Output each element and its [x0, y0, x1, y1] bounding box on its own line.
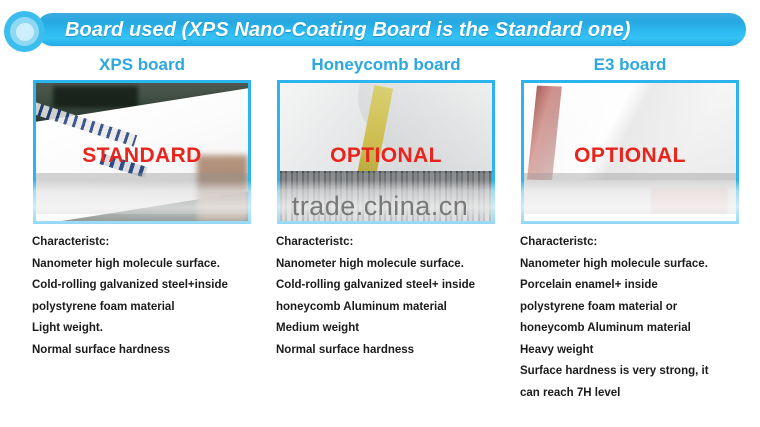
e3-photo-label: OPTIONAL: [524, 144, 736, 168]
characteristics-line: Characteristc:: [520, 232, 750, 254]
column-title-honeycomb: Honeycomb board: [266, 52, 506, 78]
characteristics-line: Medium weight: [276, 318, 506, 340]
characteristics-line: Normal surface hardness: [276, 340, 506, 362]
characteristics-line: honeycomb Aluminum material: [276, 297, 506, 319]
board-comparison-columns: XPS board STANDARD Characteristc: Nanome…: [0, 52, 760, 427]
characteristics-line: Characteristc:: [276, 232, 506, 254]
characteristics-line: Characteristc:: [32, 232, 262, 254]
characteristics-line: Normal surface hardness: [32, 340, 262, 362]
e3-board-photo: OPTIONAL: [521, 80, 739, 224]
honeycomb-characteristics-list: Characteristc: Nanometer high molecule s…: [266, 232, 506, 361]
honeycomb-board-photo: OPTIONAL: [277, 80, 495, 224]
xps-photo-label: STANDARD: [36, 144, 248, 168]
xps-characteristics-list: Characteristc: Nanometer high molecule s…: [22, 232, 262, 361]
characteristics-line: polystyrene foam material or: [520, 297, 750, 319]
characteristics-line: Cold-rolling galvanized steel+inside: [32, 275, 262, 297]
characteristics-line: Nanometer high molecule surface.: [520, 254, 750, 276]
characteristics-line: Cold-rolling galvanized steel+ inside: [276, 275, 506, 297]
characteristics-line: can reach 7H level: [520, 383, 750, 405]
concentric-circle-logo-icon: [4, 11, 45, 52]
logo-ring-inner: [16, 23, 34, 41]
xps-photo-machinery-shadow: [53, 86, 138, 108]
e3-characteristics-list: Characteristc: Nanometer high molecule s…: [510, 232, 750, 404]
board-column-xps: XPS board STANDARD Characteristc: Nanome…: [22, 52, 262, 361]
e3-photo-watermark-band: [521, 173, 739, 214]
characteristics-line: Porcelain enamel+ inside: [520, 275, 750, 297]
characteristics-line: Nanometer high molecule surface.: [276, 254, 506, 276]
characteristics-line: Nanometer high molecule surface.: [32, 254, 262, 276]
xps-board-photo: STANDARD: [33, 80, 251, 224]
characteristics-line: Heavy weight: [520, 340, 750, 362]
board-column-e3: E3 board OPTIONAL Characteristc: Nanomet…: [510, 52, 750, 404]
page-header: Board used (XPS Nano-Coating Board is th…: [0, 9, 760, 55]
characteristics-line: honeycomb Aluminum material: [520, 318, 750, 340]
characteristics-line: Surface hardness is very strong, it: [520, 361, 750, 383]
xps-photo-watermark-band: [33, 173, 251, 214]
honeycomb-photo-label: OPTIONAL: [280, 144, 492, 168]
page-title: Board used (XPS Nano-Coating Board is th…: [65, 15, 631, 45]
honeycomb-photo-watermark-band: [277, 173, 495, 214]
column-title-xps: XPS board: [22, 52, 262, 78]
column-title-e3: E3 board: [510, 52, 750, 78]
characteristics-line: Light weight.: [32, 318, 262, 340]
characteristics-line: polystyrene foam material: [32, 297, 262, 319]
logo-ring-middle: [10, 17, 39, 46]
board-column-honeycomb: Honeycomb board OPTIONAL Characteristc: …: [266, 52, 506, 361]
